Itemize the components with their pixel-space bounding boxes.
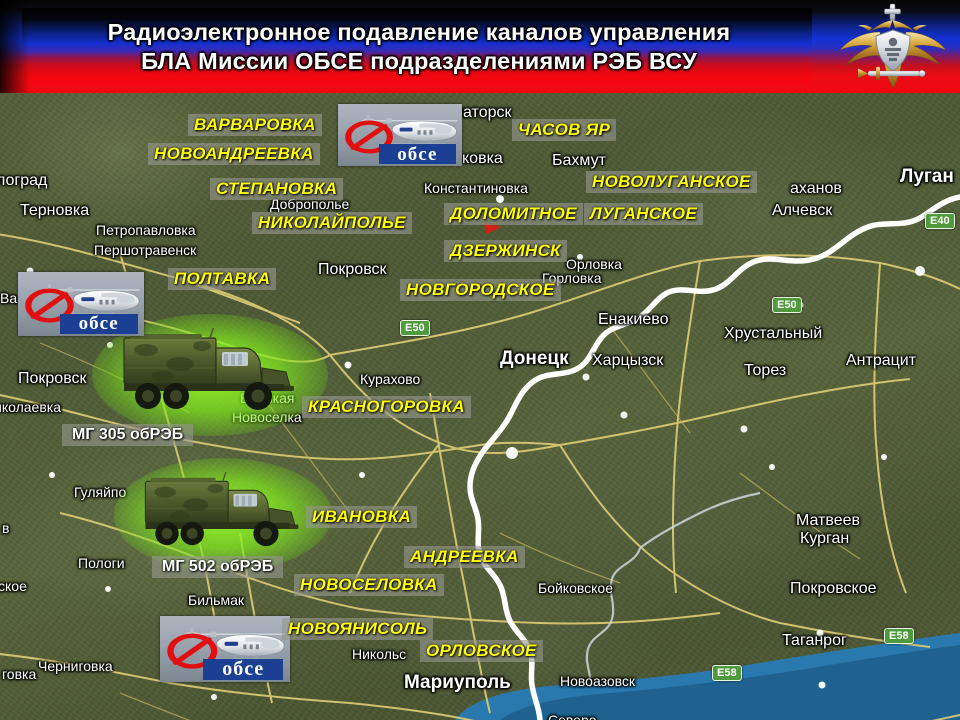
road-shield: E40	[925, 213, 955, 229]
page-title-line-1: Радиоэлектронное подавление каналов упра…	[108, 19, 731, 45]
ew-truck-icon[interactable]	[118, 328, 298, 414]
osce-uav-card-west[interactable]: обсе	[18, 272, 144, 336]
map-city-label: Бахмут	[552, 152, 606, 170]
osce-logo: обсе	[60, 314, 138, 334]
osce-uav-card-north[interactable]: обсе	[338, 104, 462, 166]
osce-logo: обсе	[379, 144, 456, 164]
settlement-label[interactable]: ЧАСОВ ЯР	[512, 119, 616, 141]
map-city-label: ковка	[462, 150, 503, 168]
settlement-label[interactable]: ИВАНОВКА	[306, 506, 417, 528]
road-shield: E58	[712, 665, 742, 681]
map-city-label: Курган	[800, 530, 849, 548]
map-city-label: Мариуполь	[404, 672, 511, 694]
map-city-label: ское	[0, 578, 27, 594]
map-city-label: Константиновка	[424, 180, 528, 196]
map-city-label: аханов	[790, 180, 842, 198]
map-city-label: Донецк	[500, 348, 569, 370]
settlement-label[interactable]: НОВОАНДРЕЕВКА	[148, 143, 320, 165]
map-city-label: Петропавловка	[96, 222, 196, 238]
map-city-label: Покровское	[790, 580, 877, 598]
osce-logo-text: обсе	[79, 314, 119, 333]
map-city-label: в	[2, 520, 9, 536]
double-headed-eagle-emblem	[832, 2, 954, 92]
header-banner: Радиоэлектронное подавление каналов упра…	[0, 0, 960, 93]
map-city-label: Покровск	[318, 261, 387, 279]
settlement-label[interactable]: НИКОЛАЙПОЛЬЕ	[252, 212, 412, 234]
road-shield: E50	[772, 297, 802, 313]
map-city-label: Ва	[0, 290, 17, 306]
ew-truck-icon[interactable]	[140, 472, 302, 550]
ew-unit-caption[interactable]: МГ 305 обРЭБ	[62, 424, 193, 446]
settlement-label[interactable]: КРАСНОГОРОВКА	[302, 396, 471, 418]
settlement-label[interactable]: АНДРЕЕВКА	[404, 546, 525, 568]
satellite-map[interactable]: лоградТерновкаПетропавловкаПершотравенск…	[0, 93, 960, 720]
map-city-label: Луган	[900, 166, 954, 188]
map-city-label: говка	[2, 666, 36, 682]
map-city-label: Алчевск	[772, 202, 832, 220]
osce-logo-text: обсе	[397, 145, 437, 164]
map-city-label: Севере	[548, 712, 597, 720]
settlement-label[interactable]: ЛУГАНСКОЕ	[584, 203, 703, 225]
road-shield: E50	[400, 320, 430, 336]
ew-unit-caption[interactable]: МГ 502 обРЭБ	[152, 556, 283, 578]
settlement-label[interactable]: НОВГОРОДСКОЕ	[400, 279, 561, 301]
ew-truck-silhouette	[118, 328, 298, 414]
settlement-label[interactable]: ДЗЕРЖИНСК	[444, 240, 567, 262]
map-city-label: Матвеев	[796, 512, 860, 530]
map-city-label: Харцызск	[592, 352, 663, 370]
ew-truck-silhouette	[140, 472, 302, 550]
page-title: Радиоэлектронное подавление каналов упра…	[24, 18, 814, 76]
road-shield: E58	[884, 628, 914, 644]
settlement-label[interactable]: НОВОЛУГАНСКОЕ	[586, 171, 757, 193]
settlement-label[interactable]: НОВОСЕЛОВКА	[294, 574, 444, 596]
osce-uav-card-south[interactable]: обсе	[160, 616, 290, 682]
map-city-label: лоград	[0, 172, 47, 190]
settlement-label[interactable]: ПОЛТАВКА	[168, 268, 276, 290]
map-city-label: Першотравенск	[94, 242, 196, 258]
settlement-label[interactable]: СТЕПАНОВКА	[210, 178, 343, 200]
map-city-label: Пологи	[78, 555, 125, 571]
map-city-label: иколаевка	[0, 399, 61, 415]
map-city-label: Бойковское	[538, 580, 613, 596]
settlement-label[interactable]: ОРЛОВСКОЕ	[420, 640, 543, 662]
settlement-label[interactable]: ВАРВАРОВКА	[188, 114, 322, 136]
map-city-label: Черниговка	[38, 658, 113, 674]
map-city-label: Курахово	[360, 371, 420, 387]
map-city-label: Бильмак	[188, 592, 244, 608]
map-city-label: Хрустальный	[724, 325, 822, 343]
map-city-label: Терновка	[20, 202, 89, 220]
map-city-label: Антрацит	[846, 352, 916, 370]
osce-logo: обсе	[203, 659, 284, 680]
map-city-label: Покровск	[18, 370, 87, 388]
map-city-label: Енакиево	[598, 311, 668, 329]
osce-logo-text: обсе	[222, 659, 264, 679]
settlement-label[interactable]: ДОЛОМИТНОЕ	[444, 203, 583, 225]
page-title-line-2: БЛА Миссии ОБСЕ подразделениями РЭБ ВСУ	[24, 47, 814, 76]
map-city-label: Таганрог	[782, 632, 847, 650]
map-city-label: Новоазовск	[560, 673, 635, 689]
map-city-label: Торез	[744, 362, 786, 380]
map-city-label: Никольс	[352, 646, 406, 662]
settlement-label[interactable]: НОВОЯНИСОЛЬ	[282, 618, 433, 640]
slide-root: Радиоэлектронное подавление каналов упра…	[0, 0, 960, 720]
